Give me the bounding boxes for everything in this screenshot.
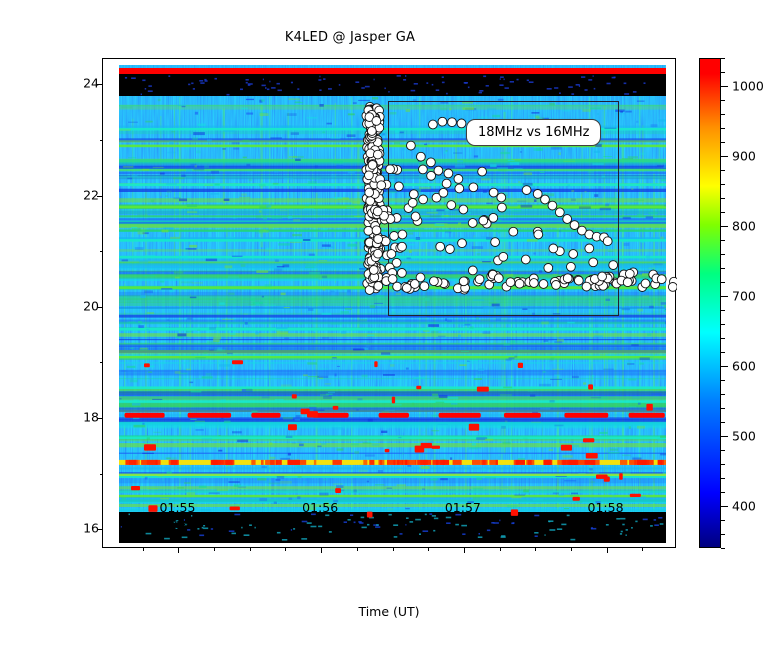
colorbar-tick-minor xyxy=(721,464,725,465)
top-red-band xyxy=(119,68,666,74)
colorbar-tick xyxy=(721,366,728,367)
y-tick-label: 24 xyxy=(59,76,99,91)
colorbar-tick xyxy=(721,506,728,507)
colorbar-tick-label: 800 xyxy=(732,219,756,234)
colorbar-tick-minor xyxy=(721,142,725,143)
colorbar-tick-minor xyxy=(721,520,725,521)
x-tick-minor xyxy=(642,547,643,551)
scatter-point xyxy=(668,283,677,292)
x-tick-minor xyxy=(535,547,536,551)
colorbar-tick xyxy=(721,296,728,297)
colorbar-tick-minor xyxy=(721,352,725,353)
colorbar-gradient xyxy=(699,58,721,548)
colorbar-tick-minor xyxy=(721,422,725,423)
colorbar-tick-minor xyxy=(721,100,725,101)
transmission-dashes-18mhz xyxy=(125,413,665,418)
colorbar-tick-label: 700 xyxy=(732,289,756,304)
x-tick-minor xyxy=(500,547,501,551)
colorbar-tick-minor xyxy=(721,254,725,255)
page-title: K4LED @ Jasper GA xyxy=(0,30,700,45)
x-tick-label: 01:57 xyxy=(445,500,481,515)
colorbar-tick-minor xyxy=(721,408,725,409)
colorbar-tick-minor xyxy=(721,198,725,199)
colorbar-tick-minor xyxy=(721,282,725,283)
y-tick-label: 20 xyxy=(59,298,99,313)
colorbar-tick-label: 600 xyxy=(732,359,756,374)
x-tick-label: 01:58 xyxy=(588,500,624,515)
colorbar-tick-minor xyxy=(721,478,725,479)
colorbar-tick-minor xyxy=(721,492,725,493)
x-tick-minor xyxy=(357,547,358,551)
colorbar-tick-minor xyxy=(721,240,725,241)
y-tick-label: 22 xyxy=(59,187,99,202)
colorbar-tick xyxy=(721,226,728,227)
colorbar-tick xyxy=(721,86,728,87)
colorbar-tick-label: 1000 xyxy=(732,79,764,94)
annotation-label: 18MHz vs 16MHz xyxy=(466,119,601,146)
colorbar-tick-label: 500 xyxy=(732,429,756,444)
figure-canvas: K4LED @ Jasper GA xyxy=(0,0,783,656)
colorbar-tick-minor xyxy=(721,212,725,213)
colorbar-tick-minor xyxy=(721,310,725,311)
colorbar[interactable]: 4005006007008009001000 xyxy=(699,58,783,548)
colorbar-tick-minor xyxy=(721,394,725,395)
x-tick-minor xyxy=(214,547,215,551)
colorbar-tick-minor xyxy=(721,170,725,171)
y-tick-minor xyxy=(100,474,104,475)
x-axis-date: 2018-05-04 xyxy=(149,516,222,531)
colorbar-tick-minor xyxy=(721,534,725,535)
x-tick-minor xyxy=(250,547,251,551)
colorbar-tick-minor xyxy=(721,380,725,381)
colorbar-tick-minor xyxy=(721,72,725,73)
x-tick-major xyxy=(464,547,465,553)
x-tick-label: 01:56 xyxy=(302,500,338,515)
colorbar-tick-minor xyxy=(721,548,725,549)
colorbar-tick-minor xyxy=(721,450,725,451)
colorbar-tick xyxy=(721,436,728,437)
x-tick-major xyxy=(178,547,179,553)
y-tick-minor xyxy=(100,140,104,141)
colorbar-tick-minor xyxy=(721,184,725,185)
colorbar-tick-minor xyxy=(721,324,725,325)
x-axis-label: Time (UT) xyxy=(102,604,676,619)
x-tick-minor xyxy=(428,547,429,551)
colorbar-tick-minor xyxy=(721,58,725,59)
plot-axes[interactable]: {} xyxy=(102,58,676,548)
colorbar-tick-label: 400 xyxy=(732,499,756,514)
y-tick-label: 16 xyxy=(59,521,99,536)
colorbar-tick-label: 900 xyxy=(732,149,756,164)
x-tick-label: 01:55 xyxy=(159,500,195,515)
x-tick-minor xyxy=(393,547,394,551)
y-tick-minor xyxy=(100,251,104,252)
x-tick-major xyxy=(607,547,608,553)
x-tick-minor xyxy=(285,547,286,551)
y-tick-label: 18 xyxy=(59,409,99,424)
colorbar-tick-minor xyxy=(721,114,725,115)
x-tick-minor xyxy=(143,547,144,551)
colorbar-tick-minor xyxy=(721,268,725,269)
y-tick-minor xyxy=(100,362,104,363)
colorbar-tick-minor xyxy=(721,338,725,339)
colorbar-tick-minor xyxy=(721,128,725,129)
scatter-point xyxy=(670,277,678,286)
x-tick-major xyxy=(321,547,322,553)
colorbar-tick xyxy=(721,156,728,157)
x-tick-minor xyxy=(571,547,572,551)
